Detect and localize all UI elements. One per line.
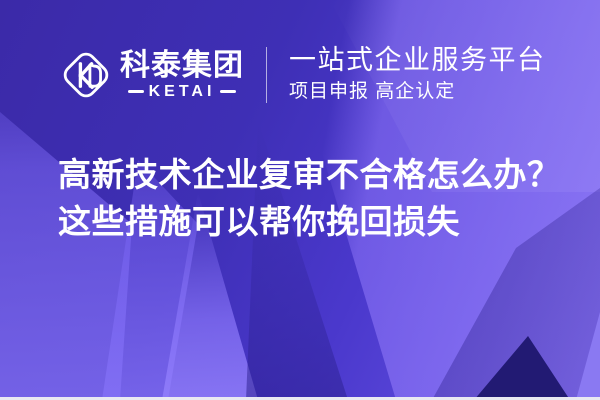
brand-name-cn: 科泰集团 bbox=[120, 50, 244, 82]
brand-wordmark: 科泰集团 KETAI bbox=[120, 50, 244, 100]
headline-block: 高新技术企业复审不合格怎么办？ 这些措施可以帮你挽回损失 bbox=[58, 152, 568, 246]
tagline-secondary: 项目申报 高企认定 bbox=[289, 80, 546, 105]
brand-logo[interactable]: 科泰集团 KETAI bbox=[58, 47, 244, 103]
tagline-block: 一站式企业服务平台 项目申报 高企认定 bbox=[289, 45, 546, 105]
banner-header: 科泰集团 KETAI 一站式企业服务平台 项目申报 高企认定 bbox=[0, 38, 600, 112]
wordmark-rule-left bbox=[128, 90, 144, 93]
tagline-primary: 一站式企业服务平台 bbox=[289, 45, 546, 76]
promo-banner: 科泰集团 KETAI 一站式企业服务平台 项目申报 高企认定 高新技术企业复审不… bbox=[0, 0, 600, 400]
header-vertical-divider bbox=[266, 47, 267, 103]
wordmark-rule-right bbox=[220, 90, 236, 93]
headline-line-2: 这些措施可以帮你挽回损失 bbox=[58, 199, 568, 246]
brand-name-en-row: KETAI bbox=[120, 84, 244, 100]
ketai-diamond-kd-monogram-icon bbox=[58, 47, 114, 103]
headline-line-1: 高新技术企业复审不合格怎么办？ bbox=[58, 152, 568, 199]
brand-name-en: KETAI bbox=[149, 84, 216, 100]
